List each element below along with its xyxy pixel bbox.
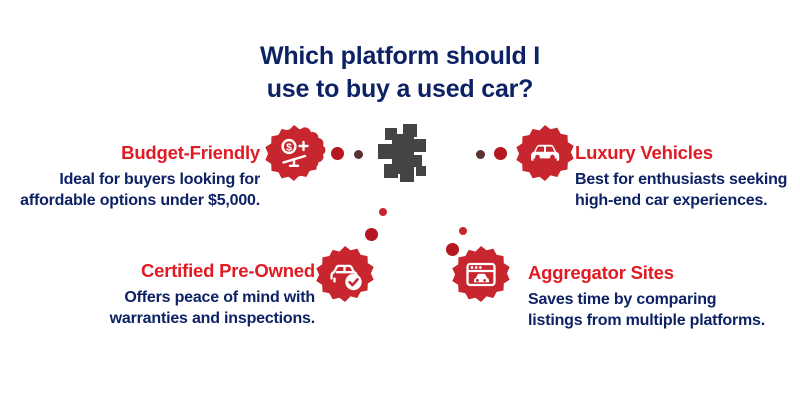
branch-budget-friendly-description: Ideal for buyers looking for affordable …: [20, 170, 260, 212]
branch-luxury-vehicles-description: Best for enthusiasts seeking high-end ca…: [575, 170, 790, 212]
page-title-line-1: Which platform should I: [220, 40, 580, 73]
branch-certified-pre-owned-description: Offers peace of mind with warranties and…: [80, 288, 315, 330]
connector-dot: [379, 208, 387, 216]
connector-dot: [331, 147, 344, 160]
browser-window-car-icon[interactable]: [452, 245, 510, 303]
branch-aggregator-sites: Aggregator Sites Saves time by comparing…: [528, 262, 768, 332]
central-car-hub-icon: [372, 122, 434, 188]
connector-dot: [459, 227, 467, 235]
branch-certified-pre-owned: Certified Pre-Owned Offers peace of mind…: [80, 260, 315, 330]
branch-budget-friendly: Budget-Friendly Ideal for buyers looking…: [20, 142, 260, 212]
branch-aggregator-sites-description: Saves time by comparing listings from mu…: [528, 290, 768, 332]
connector-dot: [446, 243, 459, 256]
branch-luxury-vehicles-heading: Luxury Vehicles: [575, 142, 790, 164]
connector-dot: [354, 150, 363, 159]
connector-dot: [476, 150, 485, 159]
branch-aggregator-sites-heading: Aggregator Sites: [528, 262, 768, 284]
branch-budget-friendly-heading: Budget-Friendly: [20, 142, 260, 164]
connector-dot: [365, 228, 378, 241]
connector-dot: [494, 147, 507, 160]
branch-certified-pre-owned-heading: Certified Pre-Owned: [80, 260, 315, 282]
money-balance-scale-icon[interactable]: $: [265, 124, 323, 182]
svg-text:$: $: [286, 142, 292, 154]
page-title: Which platform should I use to buy a use…: [220, 40, 580, 105]
luxury-car-icon[interactable]: [516, 124, 574, 182]
infographic-canvas: Which platform should I use to buy a use…: [0, 0, 800, 406]
page-title-line-2: use to buy a used car?: [220, 73, 580, 106]
branch-luxury-vehicles: Luxury Vehicles Best for enthusiasts see…: [575, 142, 790, 212]
car-verified-check-icon[interactable]: [316, 245, 374, 303]
